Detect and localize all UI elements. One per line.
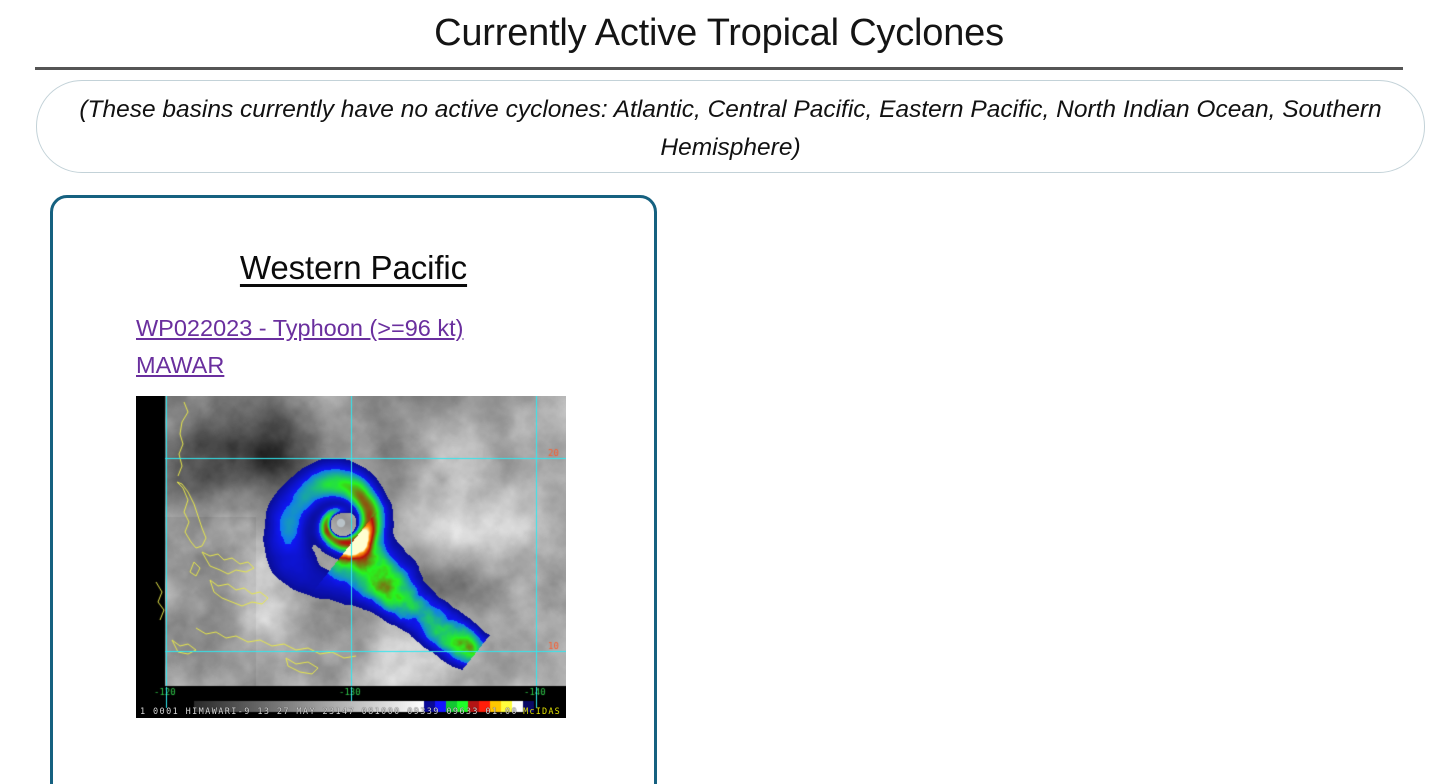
satellite-caption-left: 1 0001 HIMAWARI-9 13 27 MAY 23147 081000… — [140, 707, 518, 717]
storm-entry: WP022023 - Typhoon (>=96 kt) MAWAR 1 000… — [53, 287, 654, 718]
satellite-imagery-canvas — [136, 396, 566, 718]
page-root: Currently Active Tropical Cyclones (Thes… — [0, 0, 1438, 784]
page-title: Currently Active Tropical Cyclones — [0, 9, 1438, 58]
satellite-image-wp022023[interactable]: 1 0001 HIMAWARI-9 13 27 MAY 23147 081000… — [136, 396, 566, 718]
basin-title: Western Pacific — [53, 198, 654, 287]
header-divider — [35, 67, 1403, 70]
inactive-basins-notice: (These basins currently have no active c… — [36, 80, 1425, 173]
basin-card-western-pacific: Western Pacific WP022023 - Typhoon (>=96… — [50, 195, 657, 784]
storm-link-wp022023[interactable]: WP022023 - Typhoon (>=96 kt) MAWAR — [136, 310, 548, 384]
inactive-basins-notice-text: (These basins currently have no active c… — [71, 91, 1390, 165]
satellite-caption-right: McIDAS — [523, 707, 561, 717]
